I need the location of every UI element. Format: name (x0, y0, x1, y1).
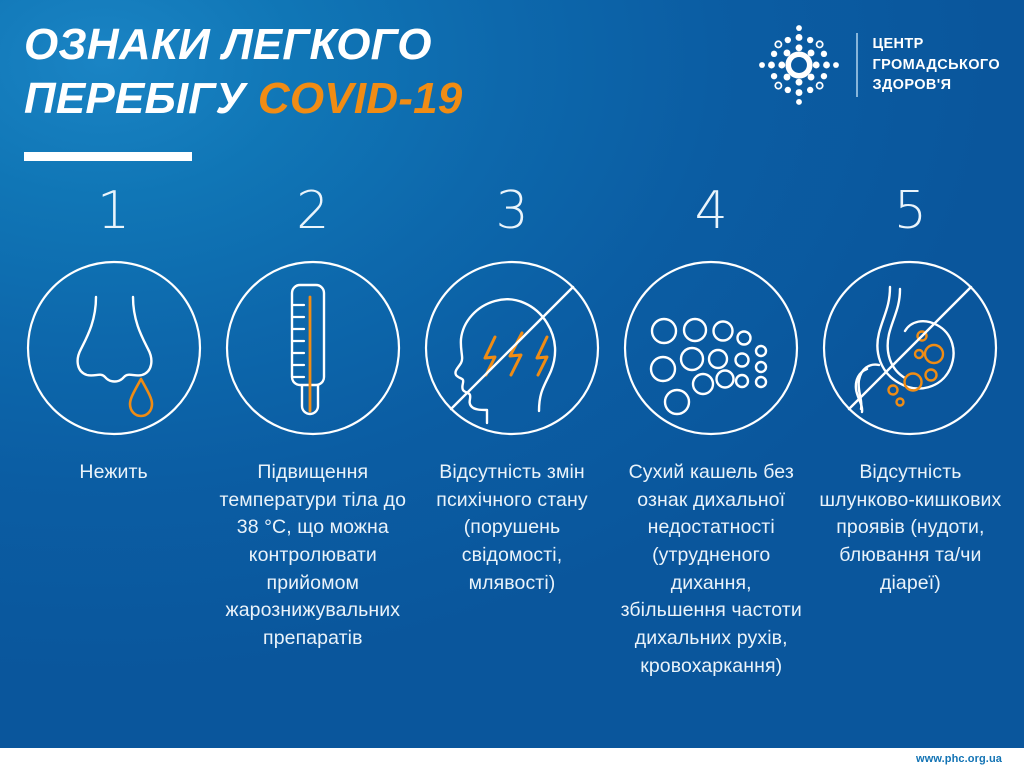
symptom-caption-2: Підвищення температури тіла до 38 °C, що… (219, 459, 406, 653)
title-line-1: ОЗНАКИ ЛЕГКОГО (24, 20, 432, 69)
title-line-2-accent: COVID-19 (258, 74, 463, 123)
step-number-3: 3 (495, 185, 528, 239)
header: ОЗНАКИ ЛЕГКОГО ПЕРЕБІГУ COVID-19 (0, 0, 1024, 175)
footer-website-link[interactable]: www.phc.org.ua (916, 753, 1002, 765)
title-line-2-plain: ПЕРЕБІГУ (24, 74, 258, 123)
runny-nose-icon (25, 259, 203, 437)
phc-radial-dots-logo-icon (756, 22, 842, 108)
symptom-column-4: 4 (612, 185, 811, 681)
step-number-2: 2 (296, 185, 329, 239)
symptom-caption-5: Відсутність шлунково-кишкових проявів (н… (817, 459, 1004, 597)
step-number-1: 1 (97, 185, 130, 239)
step-number-4: 4 (695, 185, 728, 239)
symptom-column-5: 5 Відсутність шлунково-кишкових (811, 185, 1010, 681)
symptom-column-1: 1 Нежить (14, 185, 213, 681)
symptom-caption-1: Нежить (79, 459, 147, 487)
no-stomach-symptoms-icon (821, 259, 999, 437)
symptom-caption-4: Сухий кашель без ознак дихальної недоста… (618, 459, 805, 681)
dry-cough-droplets-icon (622, 259, 800, 437)
symptom-caption-3: Відсутність змін психічного стану (поруш… (418, 459, 605, 597)
symptom-column-3: 3 Відсутність змін психічного стану (пор… (412, 185, 611, 681)
title-underline-rule (24, 152, 192, 161)
footer: www.phc.org.ua (0, 748, 1024, 769)
logo-divider (856, 33, 858, 97)
no-mental-state-change-icon (423, 259, 601, 437)
symptom-columns: 1 Нежить 2 (0, 185, 1024, 681)
infographic-poster: ОЗНАКИ ЛЕГКОГО ПЕРЕБІГУ COVID-19 (0, 0, 1024, 769)
symptom-column-2: 2 Підвищення температури тіла до 38 °C, … (213, 185, 412, 681)
brand-logo: ЦЕНТР ГРОМАДСЬКОГО ЗДОРОВ'Я (756, 22, 1000, 108)
step-number-5: 5 (894, 185, 927, 239)
thermometer-icon (224, 259, 402, 437)
page-title: ОЗНАКИ ЛЕГКОГО ПЕРЕБІГУ COVID-19 (24, 18, 664, 125)
logo-text: ЦЕНТР ГРОМАДСЬКОГО ЗДОРОВ'Я (872, 34, 1000, 96)
